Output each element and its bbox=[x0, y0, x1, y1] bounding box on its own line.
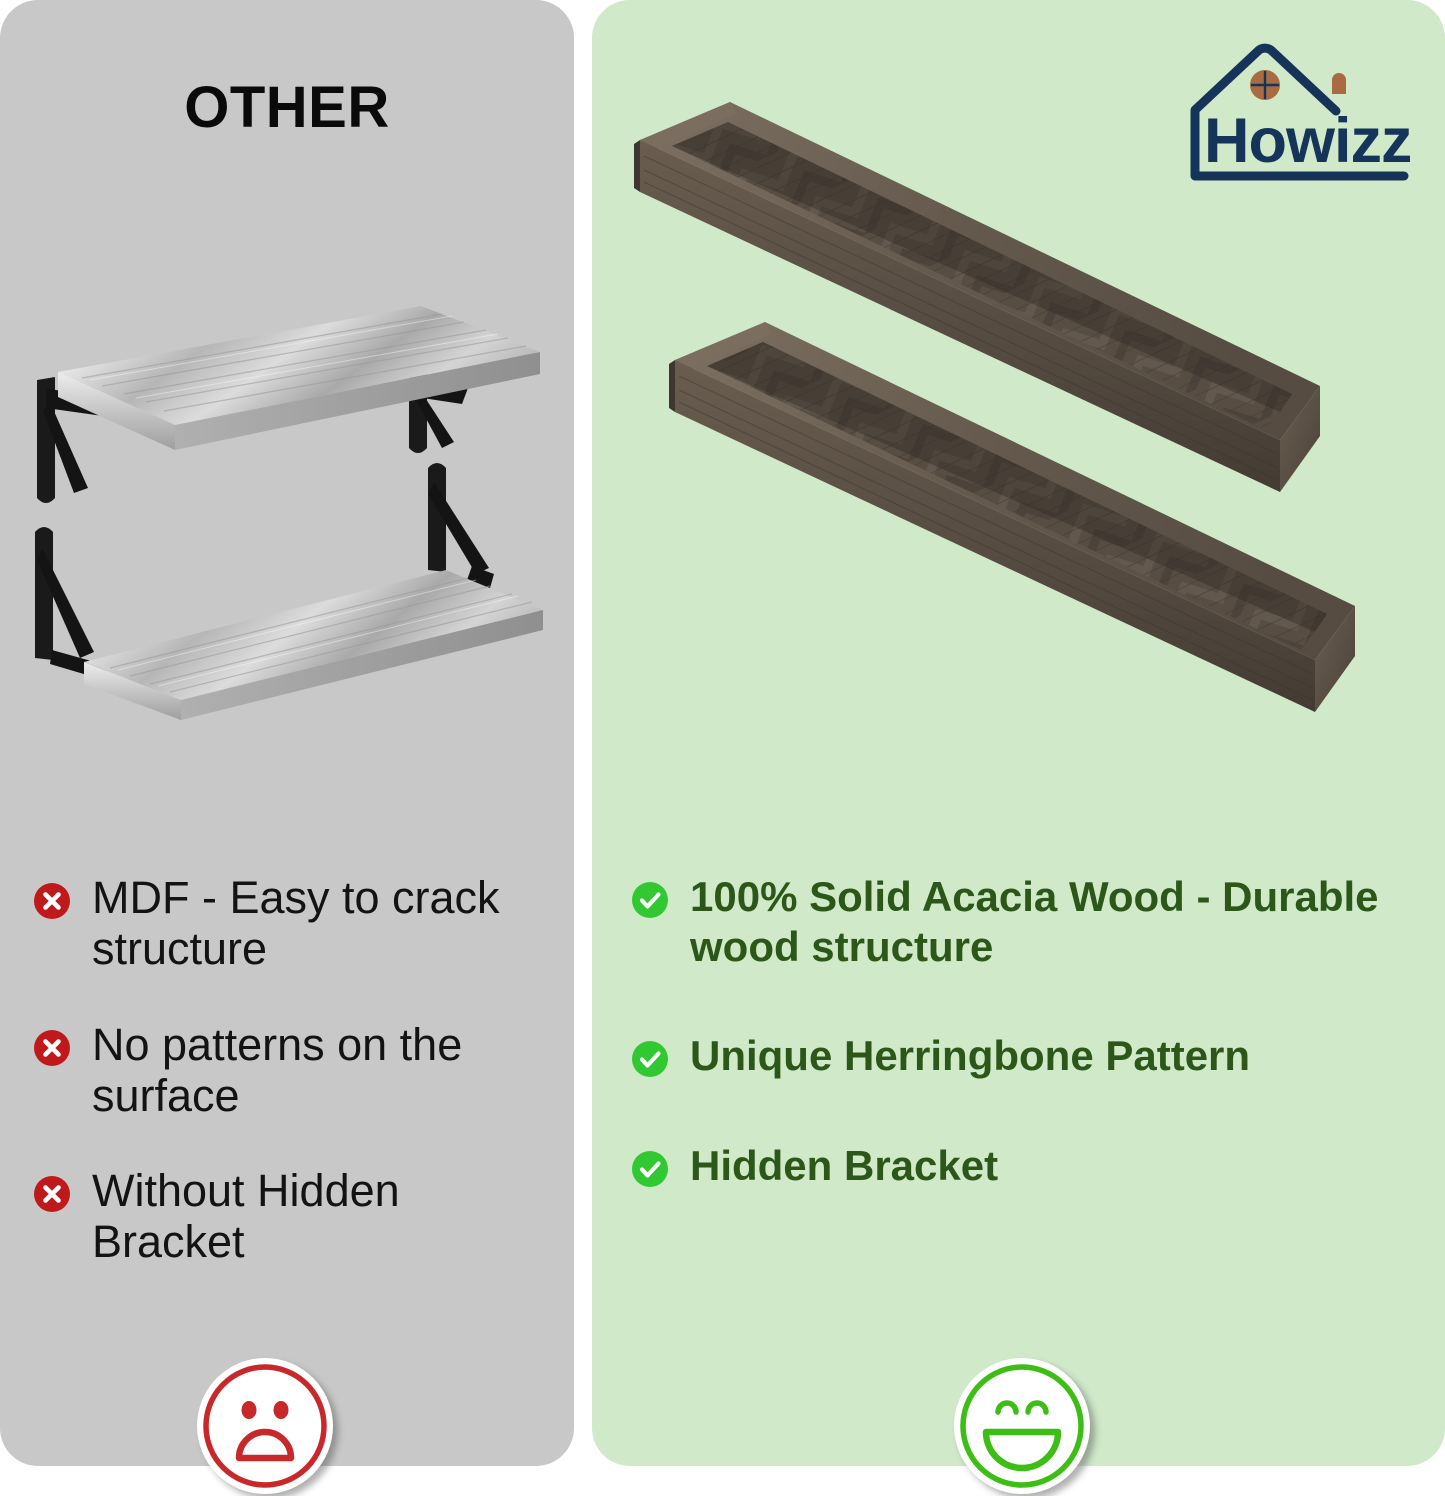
list-item-label: Hidden Bracket bbox=[690, 1141, 998, 1191]
list-item: Without Hidden Bracket bbox=[34, 1165, 534, 1268]
mdf-bracket-shelves-image bbox=[24, 280, 554, 720]
list-item-label: MDF - Easy to crack structure bbox=[92, 872, 502, 975]
other-panel-heading: OTHER bbox=[0, 74, 574, 141]
list-item-label: Without Hidden Bracket bbox=[92, 1165, 502, 1268]
other-panel-bullets: MDF - Easy to crack structure No pattern… bbox=[34, 872, 534, 1312]
list-item: Unique Herringbone Pattern bbox=[632, 1031, 1392, 1081]
acacia-herringbone-shelves-image bbox=[620, 40, 1410, 810]
list-item-label: 100% Solid Acacia Wood - Durable wood st… bbox=[690, 872, 1390, 971]
list-item: MDF - Easy to crack structure bbox=[34, 872, 534, 975]
comparison-infographic: OTHER bbox=[0, 0, 1445, 1496]
check-circle-icon bbox=[632, 882, 668, 918]
list-item-label: No patterns on the surface bbox=[92, 1019, 502, 1122]
check-circle-icon bbox=[632, 1151, 668, 1187]
howizz-panel-bullets: 100% Solid Acacia Wood - Durable wood st… bbox=[632, 872, 1392, 1250]
list-item: No patterns on the surface bbox=[34, 1019, 534, 1122]
list-item: Hidden Bracket bbox=[632, 1141, 1392, 1191]
list-item: 100% Solid Acacia Wood - Durable wood st… bbox=[632, 872, 1392, 971]
x-circle-icon bbox=[34, 883, 70, 919]
happy-face-icon bbox=[954, 1358, 1090, 1494]
list-item-label: Unique Herringbone Pattern bbox=[690, 1031, 1250, 1081]
sad-face-icon bbox=[197, 1358, 333, 1494]
x-circle-icon bbox=[34, 1176, 70, 1212]
check-circle-icon bbox=[632, 1041, 668, 1077]
x-circle-icon bbox=[34, 1030, 70, 1066]
